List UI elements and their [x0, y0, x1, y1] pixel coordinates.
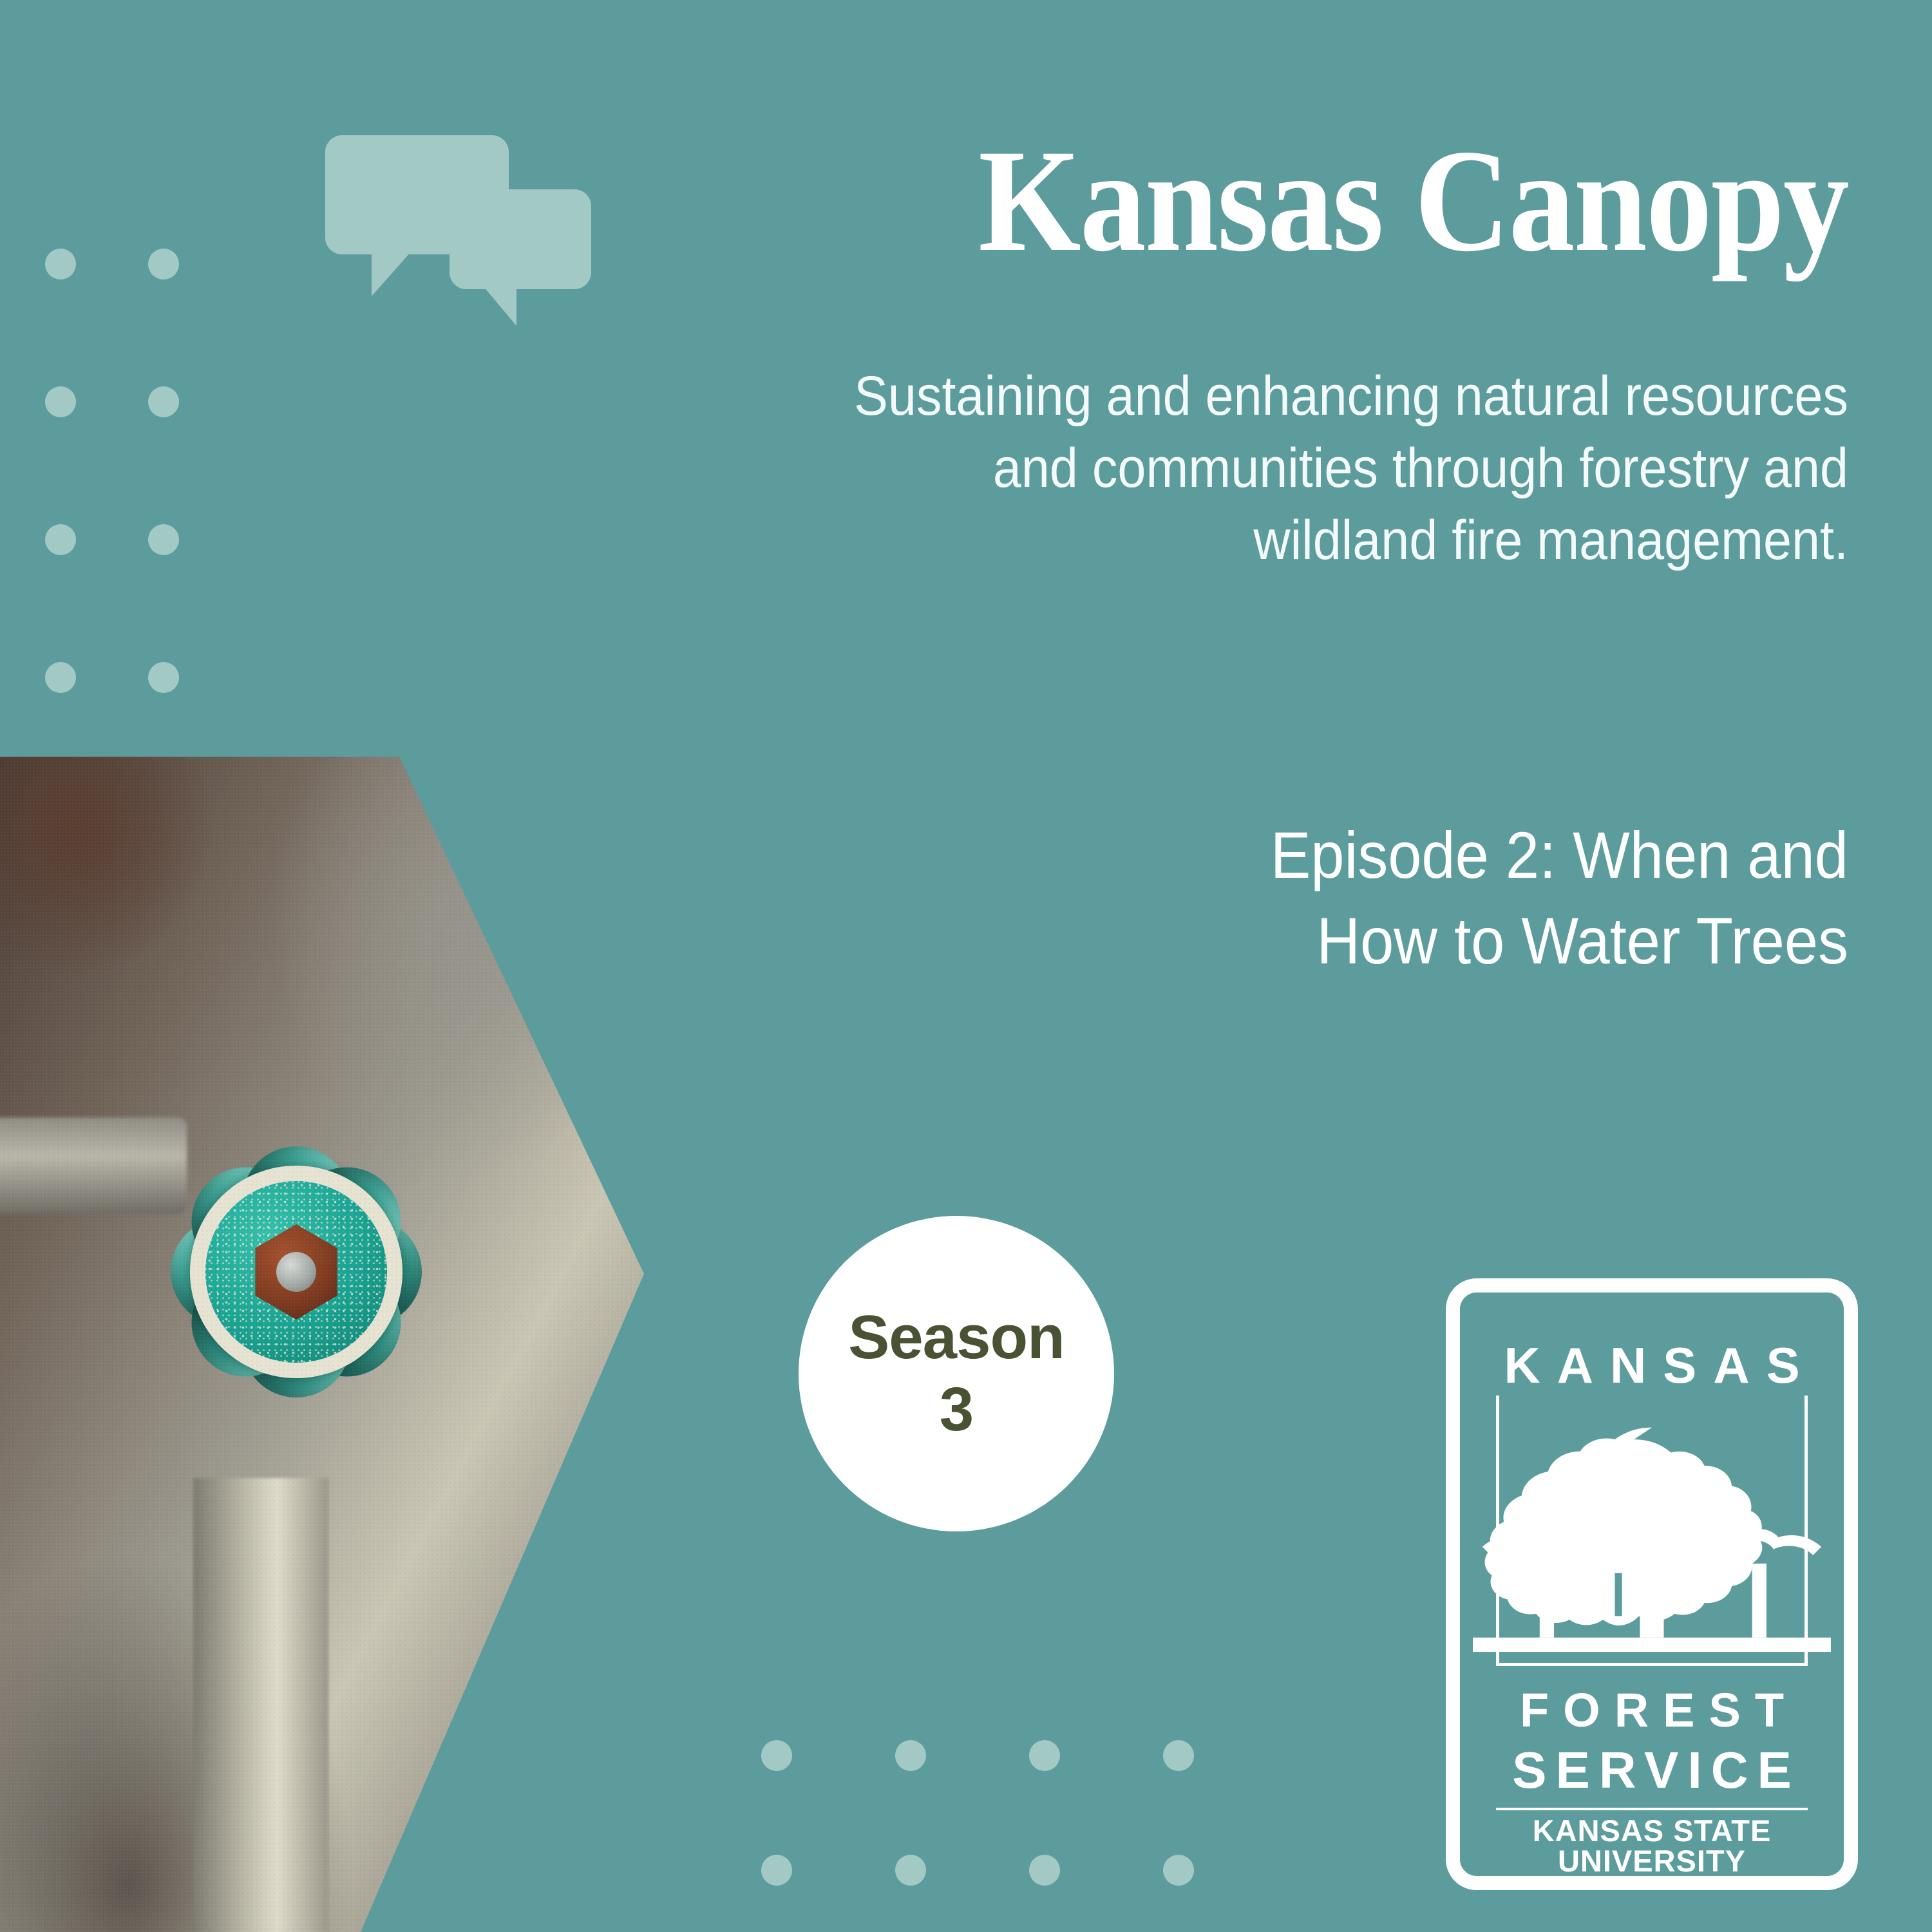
speech-bubble-front [450, 189, 591, 289]
kfs-university-text: KANSAS STATE UNIVERSITY [1460, 1815, 1844, 1876]
decorative-dot [1163, 1855, 1194, 1886]
faucet-photo [0, 757, 644, 1932]
speech-bubble-front-tail [483, 286, 516, 326]
season-badge: Season 3 [799, 1216, 1114, 1531]
decorative-dot [895, 1740, 926, 1771]
decorative-dot [148, 386, 179, 417]
kfs-divider [1496, 1808, 1808, 1810]
decorative-dot [895, 1855, 926, 1886]
decorative-dot [148, 524, 179, 555]
valve-wheel [26, 989, 567, 1555]
episode-title-line: How to Water Trees [936, 898, 1848, 984]
oak-tree-icon [1473, 1375, 1831, 1652]
kfs-service-text: SERVICE [1460, 1745, 1844, 1796]
season-label: Season [848, 1307, 1064, 1368]
kfs-forest-text: FOREST [1460, 1687, 1844, 1734]
tagline-line: Sustaining and enhancing natural resourc… [806, 361, 1848, 433]
valve-screw-head [276, 1252, 316, 1292]
season-number: 3 [940, 1379, 973, 1441]
episode-title-line: Episode 2: When and [936, 813, 1848, 898]
decorative-dot [761, 1740, 792, 1771]
decorative-dot [45, 386, 76, 417]
decorative-dot [761, 1855, 792, 1886]
podcast-cover-art: Kansas Canopy Sustaining and enhancing n… [0, 0, 1932, 1932]
tagline-line: wildland fire management. [806, 505, 1848, 577]
podcast-title: Kansas Canopy [978, 128, 1848, 274]
decorative-dot [148, 249, 179, 279]
decorative-dot [148, 662, 179, 693]
decorative-dot [1029, 1740, 1060, 1771]
episode-title: Episode 2: When and How to Water Trees [936, 813, 1848, 983]
kansas-forest-service-logo: KANSAS FOREST SERVICE KANSAS STATE UNIVE… [1446, 1278, 1858, 1890]
speech-bubbles-icon [325, 135, 596, 328]
decorative-dot [1163, 1740, 1194, 1771]
podcast-tagline: Sustaining and enhancing natural resourc… [806, 361, 1848, 576]
speech-bubble-back-tail [372, 251, 412, 296]
decorative-dot [1029, 1855, 1060, 1886]
tagline-line: and communities through forestry and [806, 433, 1848, 505]
decorative-dot [45, 524, 76, 555]
decorative-dot [45, 249, 76, 279]
decorative-dot [45, 662, 76, 693]
